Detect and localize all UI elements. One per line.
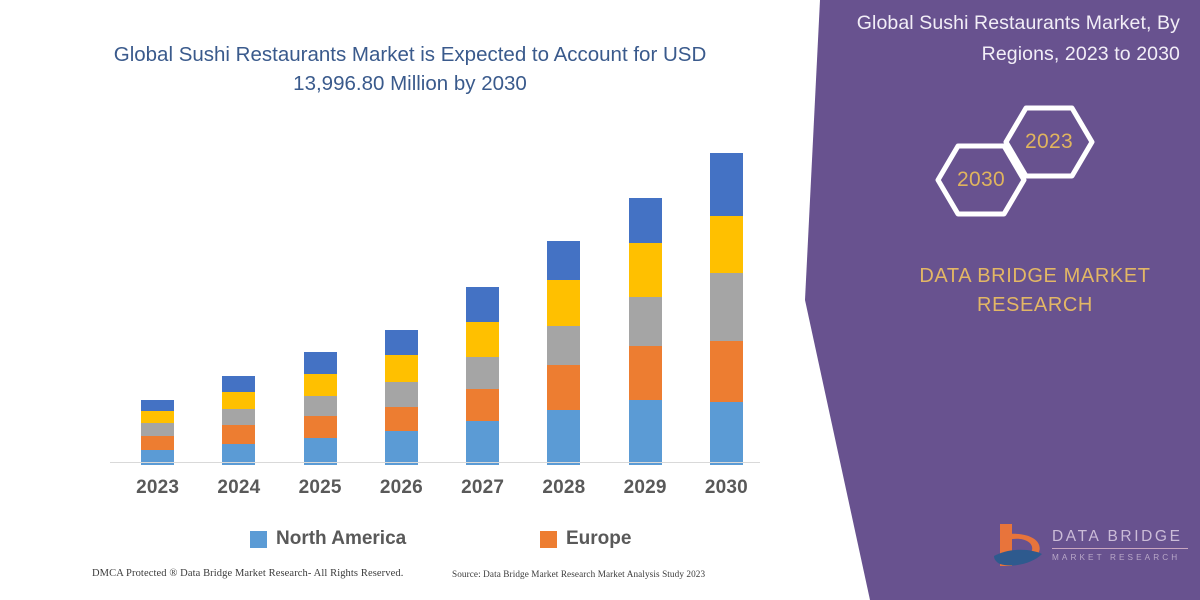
x-axis-label-2025: 2025 (280, 477, 360, 499)
hexagon-badge-2023: 2023 (1003, 105, 1095, 179)
bar-segment (547, 410, 580, 465)
bar-segment (222, 392, 255, 409)
bar-segment (385, 382, 418, 407)
legend-item-europe[interactable]: Europe (540, 528, 631, 550)
panel-title: Global Sushi Restaurants Market, By Regi… (810, 8, 1180, 70)
bar-segment (141, 411, 174, 423)
bar-segment (222, 376, 255, 392)
bar-segment (141, 400, 174, 411)
bar-segment (629, 243, 662, 298)
chart-title: Global Sushi Restaurants Market is Expec… (110, 40, 710, 98)
bar-segment (629, 400, 662, 465)
bar-segment (385, 431, 418, 465)
x-axis-label-2030: 2030 (686, 477, 766, 499)
data-bridge-logo: DATA BRIDGE MARKET RESEARCH (990, 518, 1195, 580)
chart-legend: North AmericaEurope (110, 528, 760, 556)
bar-2027 (466, 287, 499, 465)
bar-segment (141, 423, 174, 435)
bar-segment (710, 402, 743, 465)
bar-segment (466, 389, 499, 422)
bar-segment (222, 409, 255, 425)
logo-word-bottom: MARKET RESEARCH (1052, 552, 1192, 563)
footer-copyright: DMCA Protected ® Data Bridge Market Rese… (92, 568, 403, 579)
bar-segment (304, 438, 337, 465)
bar-segment (304, 352, 337, 373)
x-axis-line (110, 462, 760, 463)
x-axis-label-2028: 2028 (524, 477, 604, 499)
bar-2025 (304, 352, 337, 465)
bar-segment (547, 280, 580, 326)
bar-2029 (629, 198, 662, 465)
bar-segment (222, 425, 255, 443)
bar-segment (466, 421, 499, 465)
bar-segment (629, 346, 662, 400)
footer-source: Source: Data Bridge Market Research Mark… (452, 569, 705, 579)
infographic-canvas: Global Sushi Restaurants Market is Expec… (0, 0, 1200, 600)
bar-segment (466, 322, 499, 358)
bar-2026 (385, 330, 418, 465)
bar-2024 (222, 376, 255, 465)
bar-chart-plot-area (110, 140, 760, 465)
legend-item-north-america[interactable]: North America (250, 528, 406, 550)
bar-segment (710, 216, 743, 273)
x-axis-label-2026: 2026 (361, 477, 441, 499)
bar-segment (547, 241, 580, 281)
bar-segment (466, 357, 499, 388)
legend-label: Europe (566, 528, 631, 550)
bar-segment (547, 365, 580, 410)
x-axis-tick-labels: 20232024202520262027202820292030 (110, 477, 760, 505)
bar-segment (710, 273, 743, 341)
bar-segment (304, 416, 337, 437)
bar-segment (466, 287, 499, 322)
legend-label: North America (276, 528, 406, 550)
bar-segment (385, 330, 418, 355)
bar-segment (710, 153, 743, 216)
logo-wordmark: DATA BRIDGE MARKET RESEARCH (1052, 528, 1192, 563)
bar-2028 (547, 241, 580, 465)
logo-word-top: DATA BRIDGE (1052, 528, 1192, 546)
bar-2030 (710, 153, 743, 465)
hexagon-year-badges: 2030 2023 (925, 105, 1115, 215)
bar-segment (629, 297, 662, 346)
bar-segment (304, 374, 337, 396)
bar-segment (141, 436, 174, 450)
logo-divider (1052, 548, 1188, 549)
bar-segment (629, 198, 662, 243)
legend-swatch-icon (250, 531, 267, 548)
hexagon-label-2023: 2023 (1003, 105, 1095, 179)
x-axis-label-2029: 2029 (605, 477, 685, 499)
legend-swatch-icon (540, 531, 557, 548)
bar-2023 (141, 400, 174, 465)
bar-segment (385, 355, 418, 381)
bar-segment (304, 396, 337, 416)
brand-name: DATA BRIDGE MARKET RESEARCH (880, 262, 1190, 320)
bar-segment (547, 326, 580, 366)
bar-segment (710, 341, 743, 402)
bar-segment (385, 407, 418, 431)
data-bridge-b-icon (990, 520, 1048, 576)
footer: DMCA Protected ® Data Bridge Market Rese… (0, 568, 760, 590)
x-axis-label-2023: 2023 (118, 477, 198, 499)
x-axis-label-2027: 2027 (443, 477, 523, 499)
x-axis-label-2024: 2024 (199, 477, 279, 499)
